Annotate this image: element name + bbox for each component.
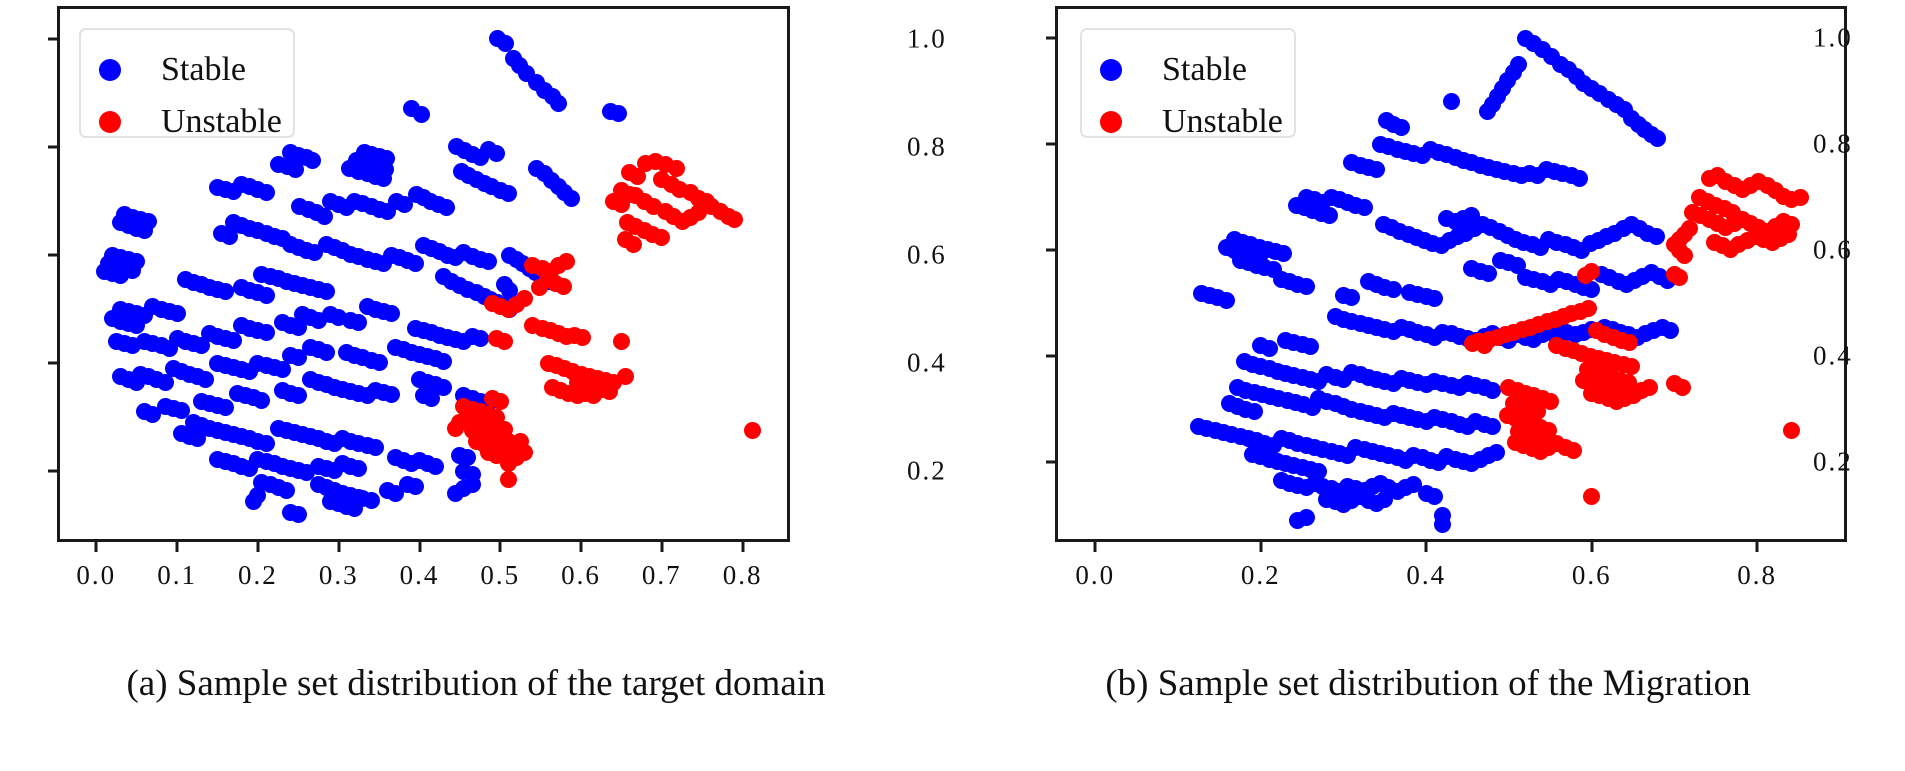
x-tick-label: 0.6 bbox=[561, 560, 601, 591]
panel-caption-b: (b) Sample set distribution of the Migra… bbox=[952, 662, 1904, 705]
data-point bbox=[379, 203, 396, 220]
data-point bbox=[617, 368, 634, 385]
data-point bbox=[258, 184, 275, 201]
x-tick-label: 0.0 bbox=[1075, 560, 1115, 591]
data-point bbox=[318, 344, 335, 361]
data-point bbox=[1368, 161, 1385, 178]
x-tick-mark bbox=[337, 542, 340, 552]
x-tick-label: 0.8 bbox=[723, 560, 763, 591]
data-point bbox=[447, 420, 464, 437]
data-point bbox=[1246, 403, 1263, 420]
y-tick-mark bbox=[1046, 37, 1056, 40]
data-point bbox=[124, 337, 141, 354]
data-point bbox=[350, 460, 367, 477]
x-tick-mark bbox=[418, 542, 421, 552]
data-point bbox=[488, 145, 505, 162]
y-tick-mark bbox=[48, 362, 58, 365]
x-tick-mark bbox=[176, 542, 179, 552]
y-tick-mark bbox=[1046, 249, 1056, 252]
unstable-marker-icon bbox=[1100, 111, 1122, 133]
data-point bbox=[367, 439, 384, 456]
data-point bbox=[306, 244, 323, 261]
data-point bbox=[189, 430, 206, 447]
data-point bbox=[318, 283, 335, 300]
data-point bbox=[363, 492, 380, 509]
data-point bbox=[496, 333, 513, 350]
y-tick-label: 0.4 bbox=[1813, 341, 1904, 372]
x-tick-mark bbox=[256, 542, 259, 552]
data-point bbox=[472, 330, 489, 347]
data-point bbox=[225, 332, 242, 349]
data-point bbox=[258, 287, 275, 304]
data-point bbox=[1484, 418, 1501, 435]
y-tick-label: 1.0 bbox=[1813, 23, 1904, 54]
data-point bbox=[1434, 516, 1451, 533]
data-point bbox=[241, 363, 258, 380]
data-point bbox=[413, 106, 430, 123]
data-point bbox=[1479, 103, 1496, 120]
y-tick-mark bbox=[1046, 143, 1056, 146]
data-point bbox=[1625, 387, 1642, 404]
data-point bbox=[1393, 119, 1410, 136]
data-point bbox=[274, 361, 291, 378]
data-point bbox=[1488, 444, 1505, 461]
data-point bbox=[427, 458, 444, 475]
data-point bbox=[193, 337, 210, 354]
y-tick-mark bbox=[48, 37, 58, 40]
data-point bbox=[668, 160, 685, 177]
x-tick-label: 0.0 bbox=[76, 560, 116, 591]
legend-label-unstable: Unstable bbox=[1162, 105, 1283, 139]
data-point bbox=[1662, 322, 1679, 339]
y-tick-mark bbox=[48, 145, 58, 148]
data-point bbox=[558, 253, 575, 270]
x-tick-label: 0.3 bbox=[319, 560, 359, 591]
data-point bbox=[1565, 442, 1582, 459]
data-point bbox=[290, 387, 307, 404]
y-tick-label: 1.0 bbox=[907, 23, 952, 54]
data-point bbox=[1289, 512, 1306, 529]
data-point bbox=[1321, 207, 1338, 224]
data-point bbox=[423, 390, 440, 407]
data-point bbox=[1621, 334, 1638, 351]
data-point bbox=[316, 208, 333, 225]
legend-label-unstable: Unstable bbox=[161, 105, 282, 139]
data-point bbox=[1343, 289, 1360, 306]
legend-entry-stable[interactable]: Stable bbox=[99, 44, 267, 96]
x-tick-mark bbox=[741, 542, 744, 552]
data-point bbox=[407, 255, 424, 272]
data-point bbox=[1783, 422, 1800, 439]
data-point bbox=[1649, 130, 1666, 147]
y-tick-mark bbox=[1046, 355, 1056, 358]
data-point bbox=[287, 161, 304, 178]
data-point bbox=[383, 305, 400, 322]
data-point bbox=[629, 168, 646, 185]
data-point bbox=[625, 236, 642, 253]
data-point bbox=[157, 374, 174, 391]
panel-caption-a: (a) Sample set distribution of the targe… bbox=[0, 662, 952, 705]
data-point bbox=[1218, 292, 1235, 309]
y-tick-mark bbox=[48, 470, 58, 473]
legend-a[interactable]: Stable Unstable bbox=[79, 28, 295, 138]
x-tick-label: 0.4 bbox=[1406, 560, 1446, 591]
y-tick-label: 0.4 bbox=[907, 348, 952, 379]
data-point bbox=[435, 353, 452, 370]
x-tick-label: 0.6 bbox=[1572, 560, 1612, 591]
data-point bbox=[217, 399, 234, 416]
data-point bbox=[1674, 379, 1691, 396]
y-tick-label: 0.6 bbox=[907, 240, 952, 271]
y-tick-label: 0.8 bbox=[907, 131, 952, 162]
data-point bbox=[128, 374, 145, 391]
data-point bbox=[169, 305, 186, 322]
data-point bbox=[1261, 340, 1278, 357]
data-point bbox=[726, 211, 743, 228]
data-point bbox=[601, 383, 618, 400]
data-point bbox=[1706, 234, 1723, 251]
data-point bbox=[245, 493, 262, 510]
panel-b: 1.00.80.60.40.2 0.00.20.40.60.8 Stable U… bbox=[952, 0, 1904, 771]
data-point bbox=[1480, 265, 1497, 282]
panel-a: 1.00.80.60.40.2 0.00.10.20.30.40.50.60.7… bbox=[0, 0, 952, 771]
stable-marker-icon bbox=[1100, 59, 1122, 81]
data-point bbox=[371, 354, 388, 371]
stable-marker-icon bbox=[99, 59, 121, 81]
data-point bbox=[1298, 278, 1315, 295]
data-point bbox=[144, 406, 161, 423]
data-point bbox=[197, 371, 214, 388]
x-tick-mark bbox=[1094, 542, 1097, 552]
data-point bbox=[304, 152, 321, 169]
data-point bbox=[1275, 245, 1292, 262]
x-tick-mark bbox=[580, 542, 583, 552]
legend-entry-unstable[interactable]: Unstable bbox=[1100, 96, 1268, 148]
data-point bbox=[550, 95, 567, 112]
data-point bbox=[1302, 338, 1319, 355]
data-point bbox=[1676, 247, 1693, 264]
data-point bbox=[375, 170, 392, 187]
data-point bbox=[128, 317, 145, 334]
x-tick-mark bbox=[1259, 542, 1262, 552]
x-tick-label: 0.1 bbox=[157, 560, 197, 591]
data-point bbox=[290, 506, 307, 523]
data-point bbox=[1571, 170, 1588, 187]
data-point bbox=[407, 478, 424, 495]
data-point bbox=[112, 267, 129, 284]
data-point bbox=[221, 228, 238, 245]
data-point bbox=[1671, 269, 1688, 286]
data-point bbox=[555, 278, 572, 295]
data-point bbox=[497, 35, 514, 52]
x-tick-label: 0.4 bbox=[400, 560, 440, 591]
x-tick-label: 0.2 bbox=[1241, 560, 1281, 591]
data-point bbox=[1792, 189, 1809, 206]
data-point bbox=[217, 283, 234, 300]
data-point bbox=[563, 190, 580, 207]
legend-label-stable: Stable bbox=[1162, 53, 1247, 87]
y-tick-label: 0.2 bbox=[907, 456, 952, 487]
data-point bbox=[258, 324, 275, 341]
x-tick-mark bbox=[660, 542, 663, 552]
data-point bbox=[290, 319, 307, 336]
data-point bbox=[1376, 491, 1393, 508]
x-tick-mark bbox=[1425, 542, 1428, 552]
x-tick-label: 0.2 bbox=[238, 560, 278, 591]
data-point bbox=[484, 390, 501, 407]
data-point bbox=[1583, 488, 1600, 505]
data-point bbox=[447, 485, 464, 502]
y-tick-mark bbox=[48, 254, 58, 257]
data-point bbox=[350, 314, 367, 331]
legend-b[interactable]: Stable Unstable bbox=[1080, 28, 1296, 138]
data-point bbox=[1641, 379, 1658, 396]
figure-container: 1.00.80.60.40.2 0.00.10.20.30.40.50.60.7… bbox=[0, 0, 1905, 771]
data-point bbox=[585, 387, 602, 404]
data-point bbox=[1443, 93, 1460, 110]
y-tick-label: 0.8 bbox=[1813, 129, 1904, 160]
data-point bbox=[574, 329, 591, 346]
data-point bbox=[438, 199, 455, 216]
x-tick-label: 0.8 bbox=[1737, 560, 1777, 591]
data-point bbox=[258, 435, 275, 452]
data-point bbox=[161, 340, 178, 357]
data-point bbox=[310, 312, 327, 329]
data-point bbox=[744, 422, 761, 439]
data-point bbox=[1476, 337, 1493, 354]
x-tick-mark bbox=[95, 542, 98, 552]
data-point bbox=[278, 482, 295, 499]
data-point bbox=[1426, 290, 1443, 307]
data-point bbox=[1648, 228, 1665, 245]
data-point bbox=[480, 253, 497, 270]
data-point bbox=[253, 392, 270, 409]
y-tick-label: 0.2 bbox=[1813, 447, 1904, 478]
x-tick-label: 0.5 bbox=[480, 560, 520, 591]
data-point bbox=[1356, 199, 1373, 216]
x-tick-mark bbox=[1756, 542, 1759, 552]
data-point bbox=[1385, 281, 1402, 298]
legend-label-stable: Stable bbox=[161, 53, 246, 87]
legend-entry-stable[interactable]: Stable bbox=[1100, 44, 1268, 96]
data-point bbox=[1426, 488, 1443, 505]
unstable-marker-icon bbox=[99, 111, 121, 133]
x-tick-label: 0.7 bbox=[642, 560, 682, 591]
data-point bbox=[1577, 267, 1594, 284]
data-point bbox=[484, 295, 501, 312]
data-point bbox=[653, 229, 670, 246]
data-point bbox=[383, 386, 400, 403]
data-point bbox=[500, 471, 517, 488]
x-tick-mark bbox=[1590, 542, 1593, 552]
data-point bbox=[396, 196, 413, 213]
y-tick-label: 0.6 bbox=[1813, 235, 1904, 266]
data-point bbox=[136, 222, 153, 239]
data-point bbox=[610, 105, 627, 122]
data-point bbox=[613, 333, 630, 350]
data-point bbox=[290, 349, 307, 366]
data-point bbox=[531, 279, 548, 296]
data-point bbox=[516, 444, 533, 461]
x-tick-mark bbox=[499, 542, 502, 552]
data-point bbox=[500, 185, 517, 202]
y-tick-mark bbox=[1046, 461, 1056, 464]
legend-entry-unstable[interactable]: Unstable bbox=[99, 96, 267, 148]
data-point bbox=[330, 309, 347, 326]
data-point bbox=[1484, 382, 1501, 399]
